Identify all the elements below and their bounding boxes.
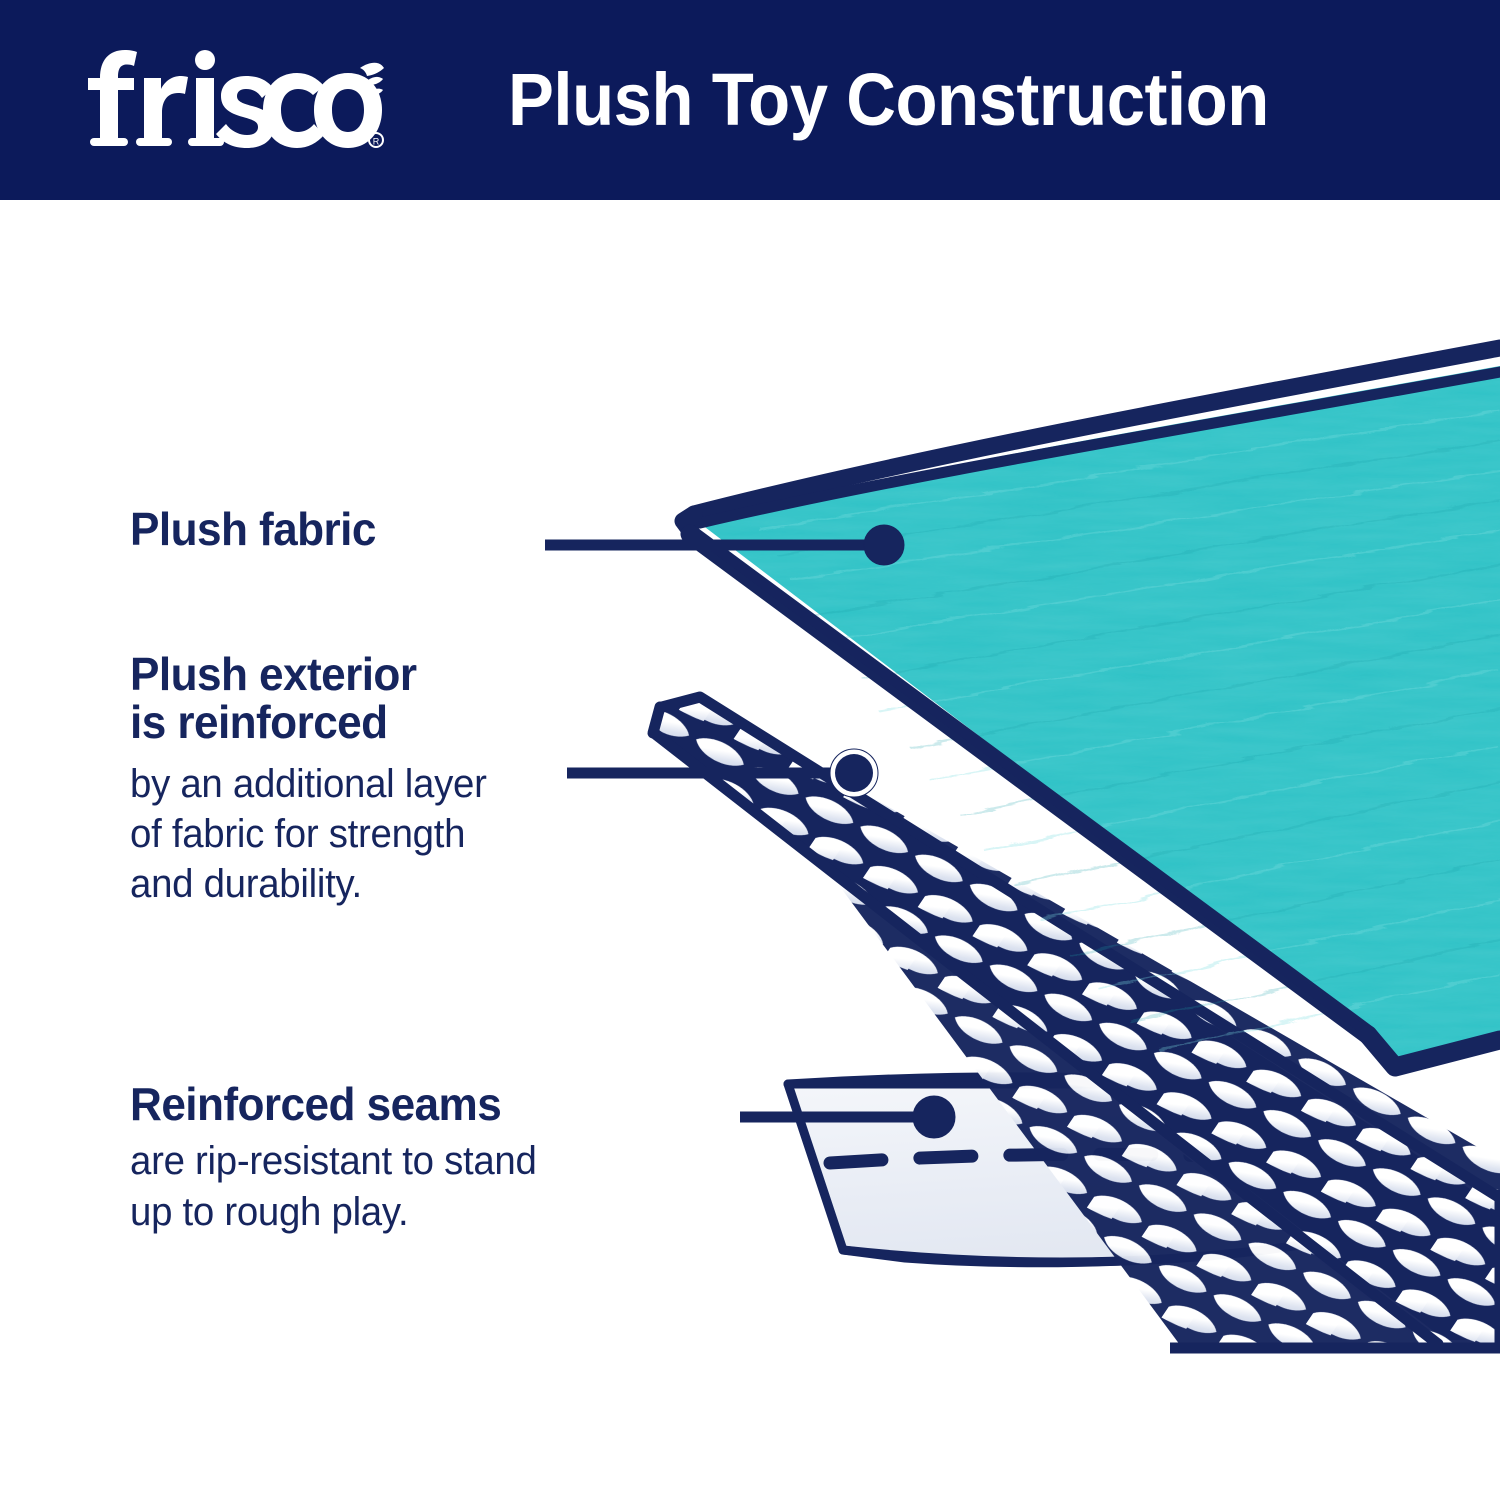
callout-reinforced-seams: Reinforced seams are rip-resistant to st… (130, 1080, 554, 1237)
callout-leader-lines (545, 525, 955, 1138)
leader-plush-fabric (545, 525, 904, 565)
header-bar: R Plush Toy Construction (0, 0, 1500, 200)
callout-heading: Reinforced seams (130, 1080, 537, 1128)
callout-body: by an additional layer of fabric for str… (130, 759, 487, 910)
svg-text:R: R (373, 137, 380, 147)
registered-trademark-icon: R (369, 133, 383, 147)
leader-reinforced-seams (740, 1096, 955, 1138)
callout-body: are rip-resistant to stand up to rough p… (130, 1136, 537, 1237)
callout-plush-exterior: Plush exterior is reinforced by an addit… (130, 650, 501, 910)
page-title: Plush Toy Construction (508, 0, 1269, 200)
callout-plush-fabric: Plush fabric (130, 505, 386, 553)
reinforcement-mesh-layer (600, 650, 1500, 1410)
reinforced-seam-flap (788, 1077, 1320, 1263)
infographic-root: R Plush Toy Construction (0, 0, 1500, 1500)
plush-fabric-layer (683, 348, 1500, 1067)
leader-plush-exterior (567, 749, 878, 797)
callout-heading: Plush exterior is reinforced (130, 650, 487, 747)
frisco-logo: R (84, 46, 384, 154)
stitch-dashes (830, 1154, 1270, 1163)
callout-heading: Plush fabric (130, 505, 376, 553)
